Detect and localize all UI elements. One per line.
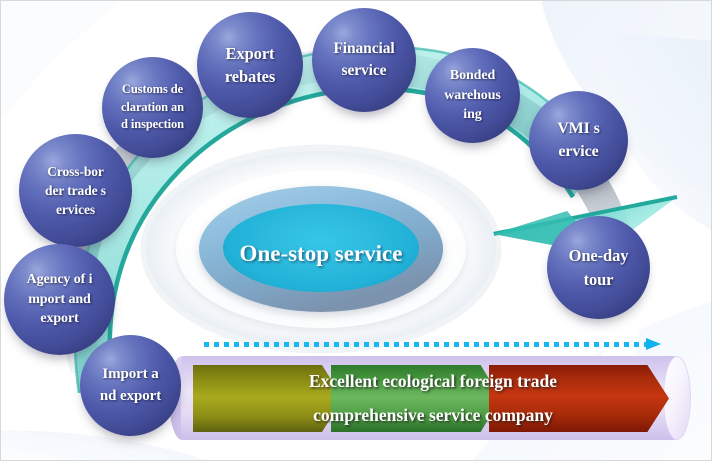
service-node-label-line: VMI s — [557, 118, 600, 141]
service-node-label-line: tour — [584, 268, 614, 291]
service-node-export-rebates[interactable]: Exportrebates — [197, 12, 303, 118]
service-node-label-line: Export — [226, 42, 275, 65]
service-node-label-line: mport and — [28, 290, 91, 310]
service-node-label-line: Financial — [333, 38, 394, 60]
service-node-agency-of-import-and-export[interactable]: Agency of import andexport — [4, 244, 115, 355]
service-node-label-line: Bonded — [450, 66, 495, 86]
progress-dotted-arrow-line — [204, 342, 646, 347]
service-node-label-line: export — [40, 309, 78, 329]
infographic-diagram: One-stop service Excellent ecological fo… — [0, 0, 712, 461]
service-node-label-line: warehous — [444, 86, 501, 106]
service-node-label-line: ervices — [56, 200, 95, 219]
service-node-vmi-service[interactable]: VMI service — [529, 91, 628, 190]
service-node-label-line: Cross-bor — [47, 162, 104, 181]
service-node-label-line: Agency of i — [27, 270, 93, 290]
service-node-label-line: ervice — [558, 141, 598, 164]
progress-arrow-head-icon — [646, 338, 661, 350]
service-node-customs-declaration-inspection[interactable]: Customs declaration and inspection — [102, 57, 203, 158]
banner-caption-line-2: comprehensive service company — [313, 398, 553, 432]
service-node-cross-border-trade-services[interactable]: Cross-border trade services — [19, 134, 132, 247]
service-node-label-line: claration an — [121, 99, 184, 117]
service-node-label-line: Import a — [102, 364, 158, 385]
service-node-financial-service[interactable]: Financialservice — [312, 8, 416, 112]
service-node-label-line: d inspection — [121, 116, 184, 134]
banner-caption: Excellent ecological foreign trade compr… — [207, 366, 659, 430]
service-node-label-line: Customs de — [122, 81, 183, 99]
service-node-label-line: nd export — [100, 386, 161, 407]
service-node-bonded-warehousing[interactable]: Bondedwarehousing — [425, 48, 520, 143]
service-node-one-day-tour[interactable]: One-daytour — [547, 216, 650, 319]
service-node-label-line: rebates — [225, 65, 275, 88]
service-node-label-line: One-day — [569, 244, 629, 267]
service-node-label-line: service — [342, 60, 387, 82]
service-node-label-line: ing — [463, 105, 481, 125]
banner-caption-line-1: Excellent ecological foreign trade — [309, 364, 557, 398]
service-node-import-and-export[interactable]: Import and export — [80, 335, 181, 436]
center-label: One-stop service — [240, 241, 403, 267]
service-node-label-line: der trade s — [45, 181, 106, 200]
